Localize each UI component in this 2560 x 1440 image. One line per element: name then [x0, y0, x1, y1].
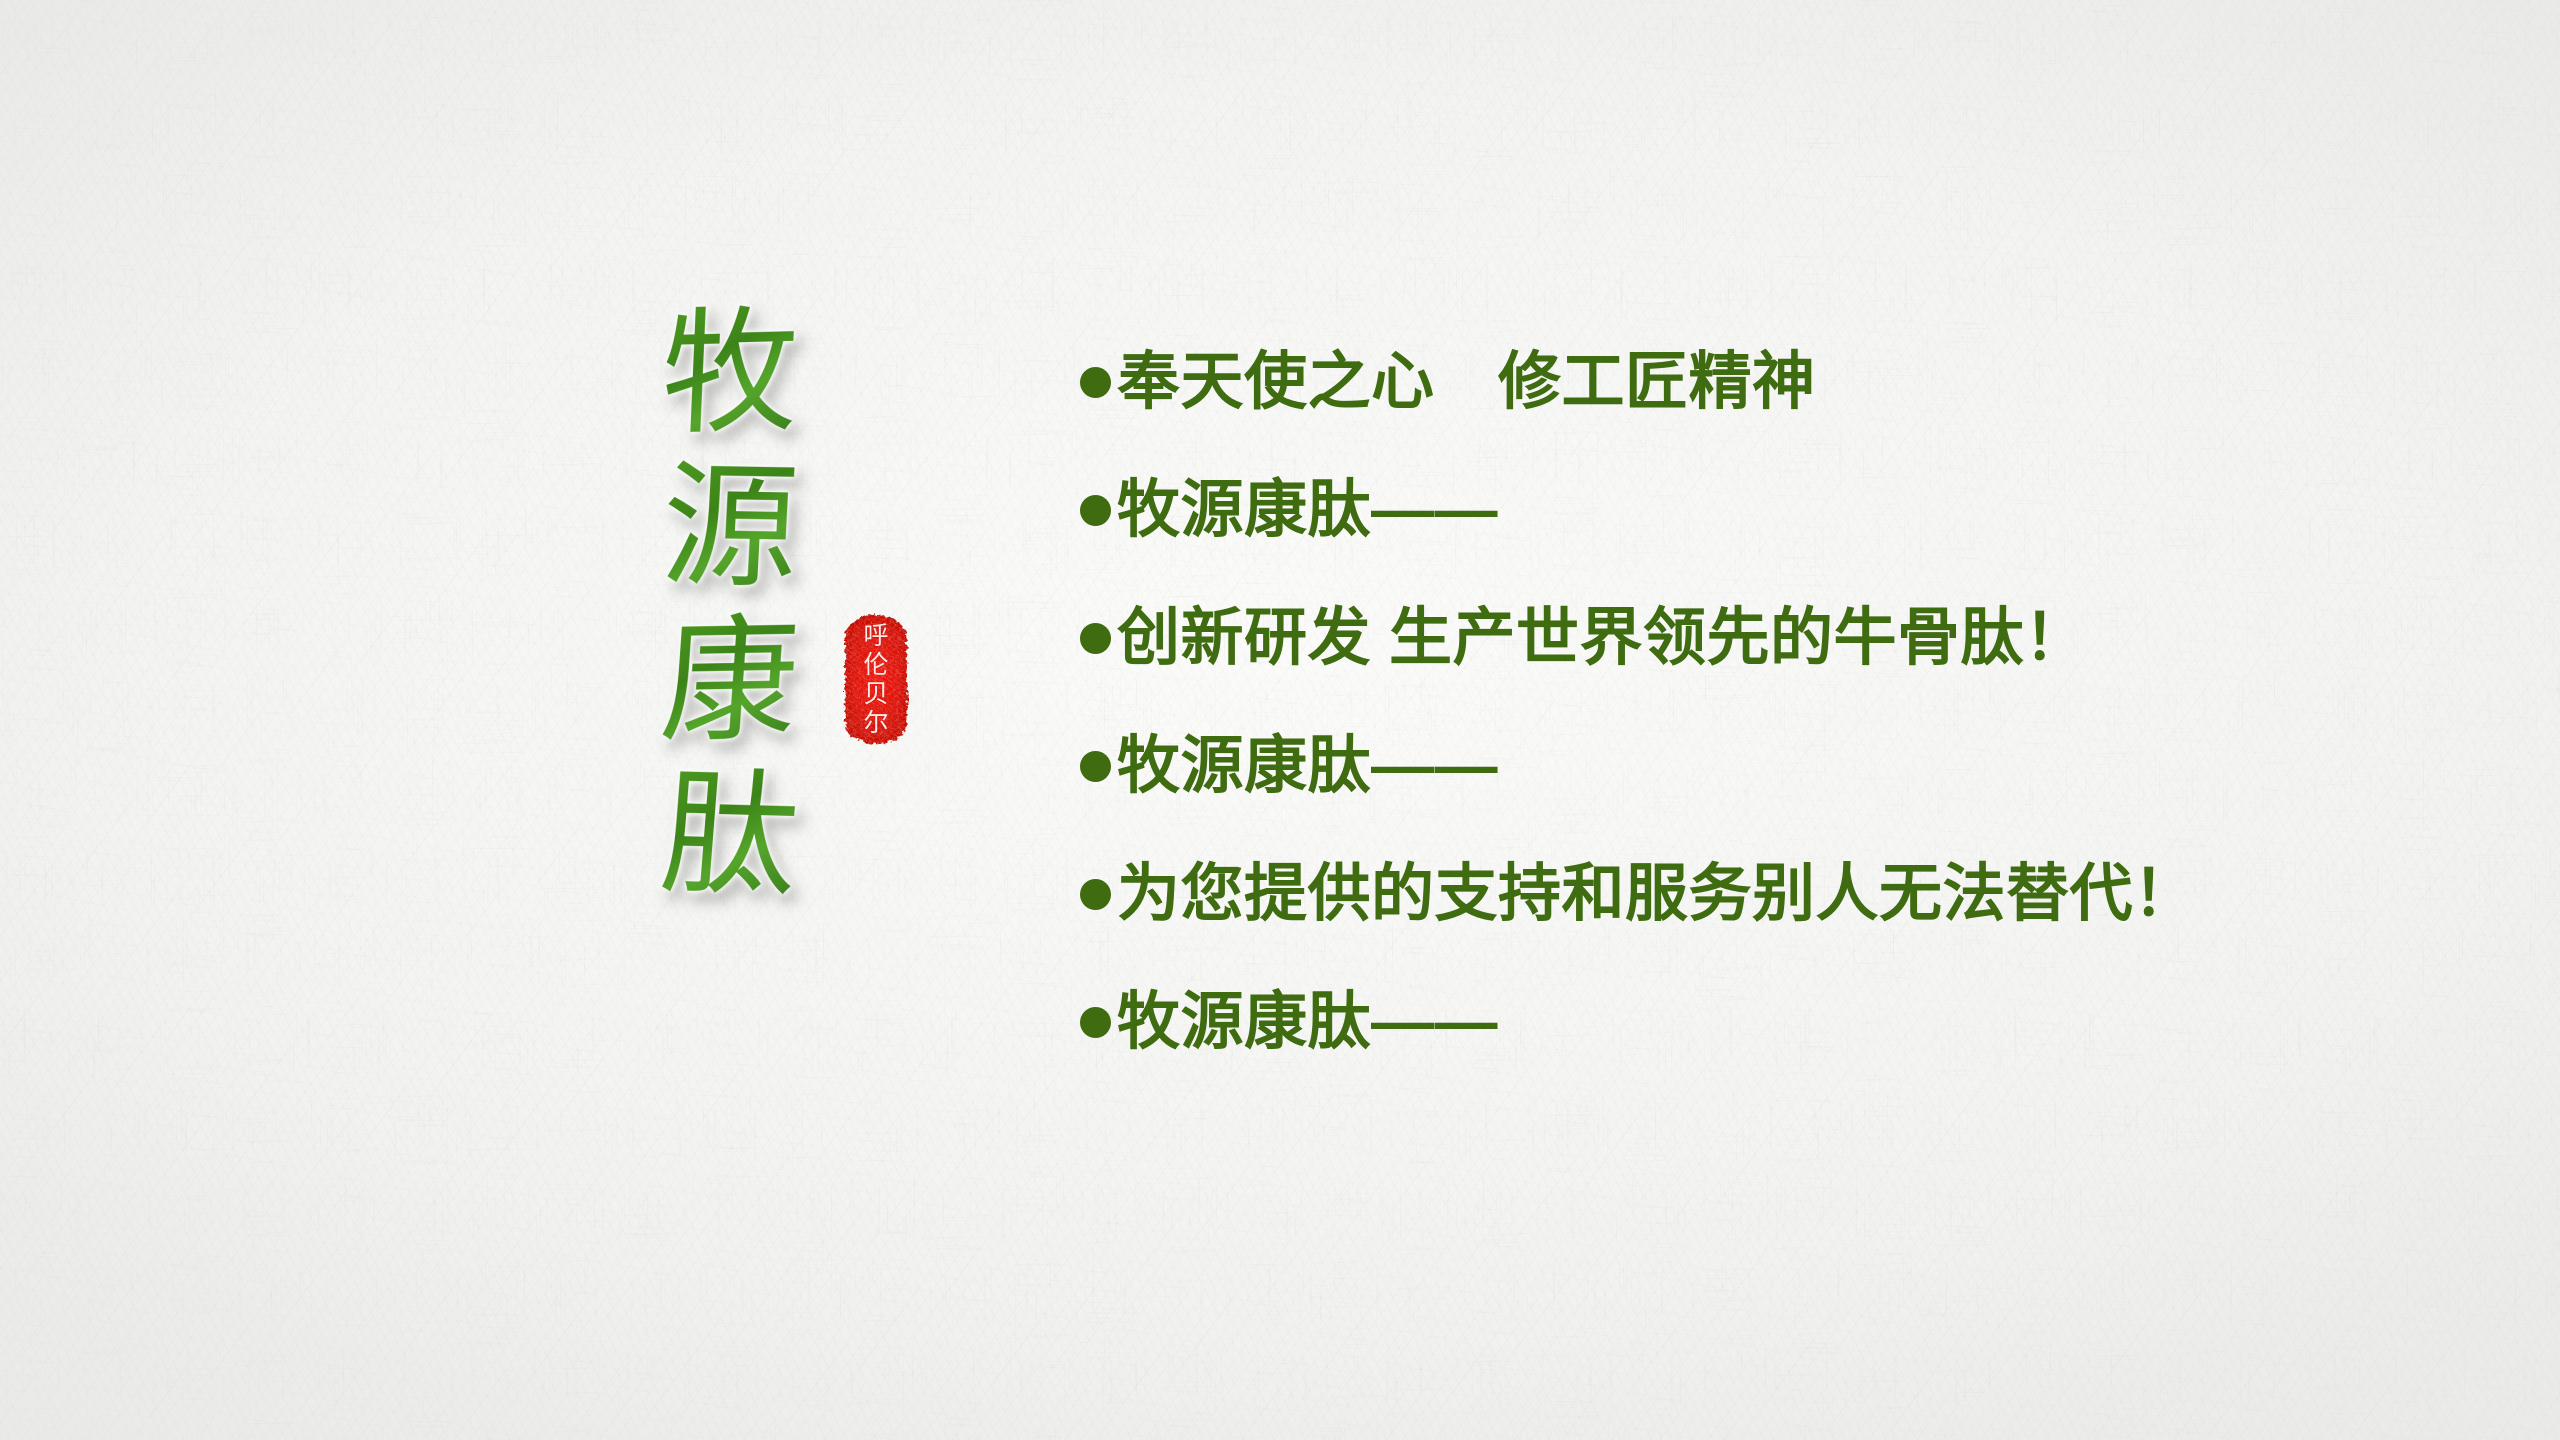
seal-char-4: 尔 [863, 709, 888, 737]
slide-canvas: 牧 源 康 肽 呼 伦 贝 尔 奉天使之心 修工匠精神 牧源康肽—— 创新研发 … [0, 0, 2560, 1440]
seal-char-3: 贝 [863, 680, 888, 708]
bullet-dot-icon [1080, 1007, 1111, 1038]
slogan-text-5: 为您提供的支持和服务别人无法替代！ [1117, 863, 2197, 926]
slogan-text-3: 创新研发 生产世界领先的牛骨肽！ [1117, 607, 2088, 670]
slogan-item-5: 为您提供的支持和服务别人无法替代！ [1080, 830, 2460, 958]
brand-calligraphy-vertical: 牧 源 康 肽 [640, 300, 820, 910]
red-seal-stamp: 呼 伦 贝 尔 [845, 615, 907, 743]
slogan-list: 奉天使之心 修工匠精神 牧源康肽—— 创新研发 生产世界领先的牛骨肽！ 牧源康肽… [1080, 318, 2460, 1086]
calligraphy-char-3: 康 [651, 607, 810, 758]
slogan-text-2: 牧源康肽—— [1117, 479, 1498, 542]
bullet-dot-icon [1080, 879, 1111, 910]
slogan-item-2: 牧源康肽—— [1080, 446, 2460, 574]
bullet-dot-icon [1080, 495, 1111, 526]
slogan-item-4: 牧源康肽—— [1080, 702, 2460, 830]
slogan-text-4: 牧源康肽—— [1117, 735, 1498, 798]
seal-char-2: 伦 [863, 651, 888, 679]
slogan-item-6: 牧源康肽—— [1080, 958, 2460, 1086]
bullet-dot-icon [1080, 751, 1111, 782]
slogan-item-1: 奉天使之心 修工匠精神 [1080, 318, 2460, 446]
calligraphy-char-2: 源 [652, 453, 808, 604]
calligraphy-char-4: 肽 [650, 760, 809, 912]
seal-text: 呼 伦 贝 尔 [845, 615, 907, 743]
slogan-text-1: 奉天使之心 修工匠精神 [1117, 351, 1816, 414]
slogan-item-3: 创新研发 生产世界领先的牛骨肽！ [1080, 574, 2460, 702]
calligraphy-char-1: 牧 [653, 298, 808, 450]
slogan-text-6: 牧源康肽—— [1117, 991, 1498, 1054]
bullet-dot-icon [1080, 623, 1111, 654]
bullet-dot-icon [1080, 367, 1111, 398]
seal-char-1: 呼 [863, 622, 888, 650]
